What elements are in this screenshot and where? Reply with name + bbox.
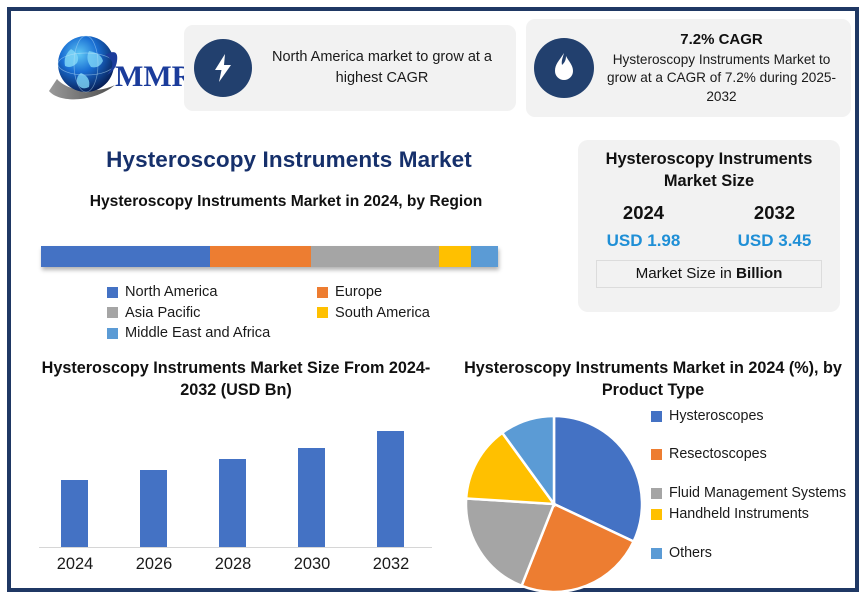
region-legend-label: Middle East and Africa: [125, 325, 270, 341]
product-type-legend-item: Fluid Management Systems: [651, 484, 856, 503]
region-legend-item: South America: [317, 303, 527, 324]
region-bar-segment: [210, 246, 311, 267]
region-bar-segment: [439, 246, 471, 267]
market-size-values: USD 1.98 USD 3.45: [578, 231, 840, 251]
forecast-x-label: 2032: [356, 555, 426, 574]
market-size-unit-bold: Billion: [736, 265, 782, 282]
lightning-bolt-icon: [194, 39, 252, 97]
product-type-legend: HysteroscopesResectoscopesFluid Manageme…: [651, 407, 856, 582]
region-legend: North AmericaEuropeAsia PacificSouth Ame…: [107, 282, 527, 344]
header-fact-text-2: 7.2% CAGR Hysteroscopy Instruments Marke…: [602, 30, 841, 107]
product-type-legend-item: Handheld Instruments: [651, 505, 856, 524]
header-fact-heading-2: 7.2% CAGR: [602, 30, 841, 50]
forecast-x-labels: 20242026202820302032: [39, 555, 435, 583]
legend-swatch-icon: [651, 488, 662, 499]
product-type-legend-item: Resectoscopes: [651, 445, 856, 464]
forecast-axis-line: [39, 547, 432, 548]
infographic-root: MMR North America market to grow at a hi…: [0, 0, 866, 599]
forecast-bar: [298, 448, 325, 547]
header-fact-text-1: North America market to grow at a highes…: [260, 47, 504, 89]
region-stacked-bar: [41, 246, 498, 267]
market-size-panel: Hysteroscopy Instruments Market Size 202…: [578, 140, 840, 312]
legend-swatch-icon: [651, 548, 662, 559]
product-type-pie-chart: [463, 413, 645, 595]
legend-swatch-icon: [107, 307, 118, 318]
market-size-year-end: 2032: [709, 202, 840, 224]
product-type-legend-label: Resectoscopes: [669, 445, 767, 464]
market-size-panel-title: Hysteroscopy Instruments Market Size: [578, 149, 840, 193]
product-type-chart-title: Hysteroscopy Instruments Market in 2024 …: [458, 357, 848, 402]
flame-icon: [534, 38, 594, 98]
legend-swatch-icon: [651, 449, 662, 460]
forecast-bar: [377, 431, 404, 547]
legend-swatch-icon: [651, 509, 662, 520]
forecast-bar-chart: [39, 416, 435, 547]
region-legend-label: South America: [335, 305, 430, 321]
header-row: MMR North America market to grow at a hi…: [11, 11, 863, 123]
region-bar-segment: [311, 246, 439, 267]
product-type-legend-label: Hysteroscopes: [669, 407, 764, 426]
region-legend-label: Asia Pacific: [125, 305, 200, 321]
region-legend-item: Asia Pacific: [107, 303, 317, 324]
region-legend-item: Middle East and Africa: [107, 323, 317, 344]
market-size-years: 2024 2032: [578, 202, 840, 224]
header-fact-card-1: North America market to grow at a highes…: [184, 25, 516, 111]
forecast-chart-title: Hysteroscopy Instruments Market Size Fro…: [36, 357, 436, 402]
infographic-frame: MMR North America market to grow at a hi…: [7, 7, 859, 592]
product-type-legend-label: Fluid Management Systems: [669, 484, 846, 503]
page-title: Hysteroscopy Instruments Market: [19, 147, 559, 173]
forecast-x-label: 2026: [119, 555, 189, 574]
mmr-logo: MMR: [41, 29, 191, 109]
legend-swatch-icon: [317, 287, 328, 298]
forecast-bar: [140, 470, 167, 547]
region-chart-title: Hysteroscopy Instruments Market in 2024,…: [41, 191, 531, 213]
forecast-x-label: 2028: [198, 555, 268, 574]
market-size-unit-prefix: Market Size in: [636, 265, 736, 282]
forecast-x-label: 2030: [277, 555, 347, 574]
region-legend-label: Europe: [335, 284, 382, 300]
forecast-bar: [219, 459, 246, 547]
product-type-legend-item: Others: [651, 544, 856, 563]
region-legend-item: Europe: [317, 282, 527, 303]
region-legend-item: North America: [107, 282, 317, 303]
header-fact-card-2: 7.2% CAGR Hysteroscopy Instruments Marke…: [526, 19, 851, 117]
logo-wordmark: MMR: [115, 60, 191, 93]
product-type-legend-item: Hysteroscopes: [651, 407, 856, 426]
legend-swatch-icon: [317, 307, 328, 318]
market-size-value-end: USD 3.45: [709, 231, 840, 251]
region-bar-segment: [471, 246, 498, 267]
forecast-x-label: 2024: [40, 555, 110, 574]
header-fact-body-2: Hysteroscopy Instruments Market to grow …: [607, 52, 836, 104]
legend-swatch-icon: [107, 287, 118, 298]
market-size-value-start: USD 1.98: [578, 231, 709, 251]
market-size-year-start: 2024: [578, 202, 709, 224]
region-legend-label: North America: [125, 284, 217, 300]
forecast-bar: [61, 480, 88, 547]
globe-swoosh-logo: MMR: [41, 29, 191, 109]
region-bar-segment: [41, 246, 210, 267]
product-type-legend-label: Handheld Instruments: [669, 505, 809, 524]
legend-swatch-icon: [107, 328, 118, 339]
legend-swatch-icon: [651, 411, 662, 422]
product-type-legend-label: Others: [669, 544, 712, 563]
market-size-unit-note: Market Size in Billion: [596, 260, 822, 288]
